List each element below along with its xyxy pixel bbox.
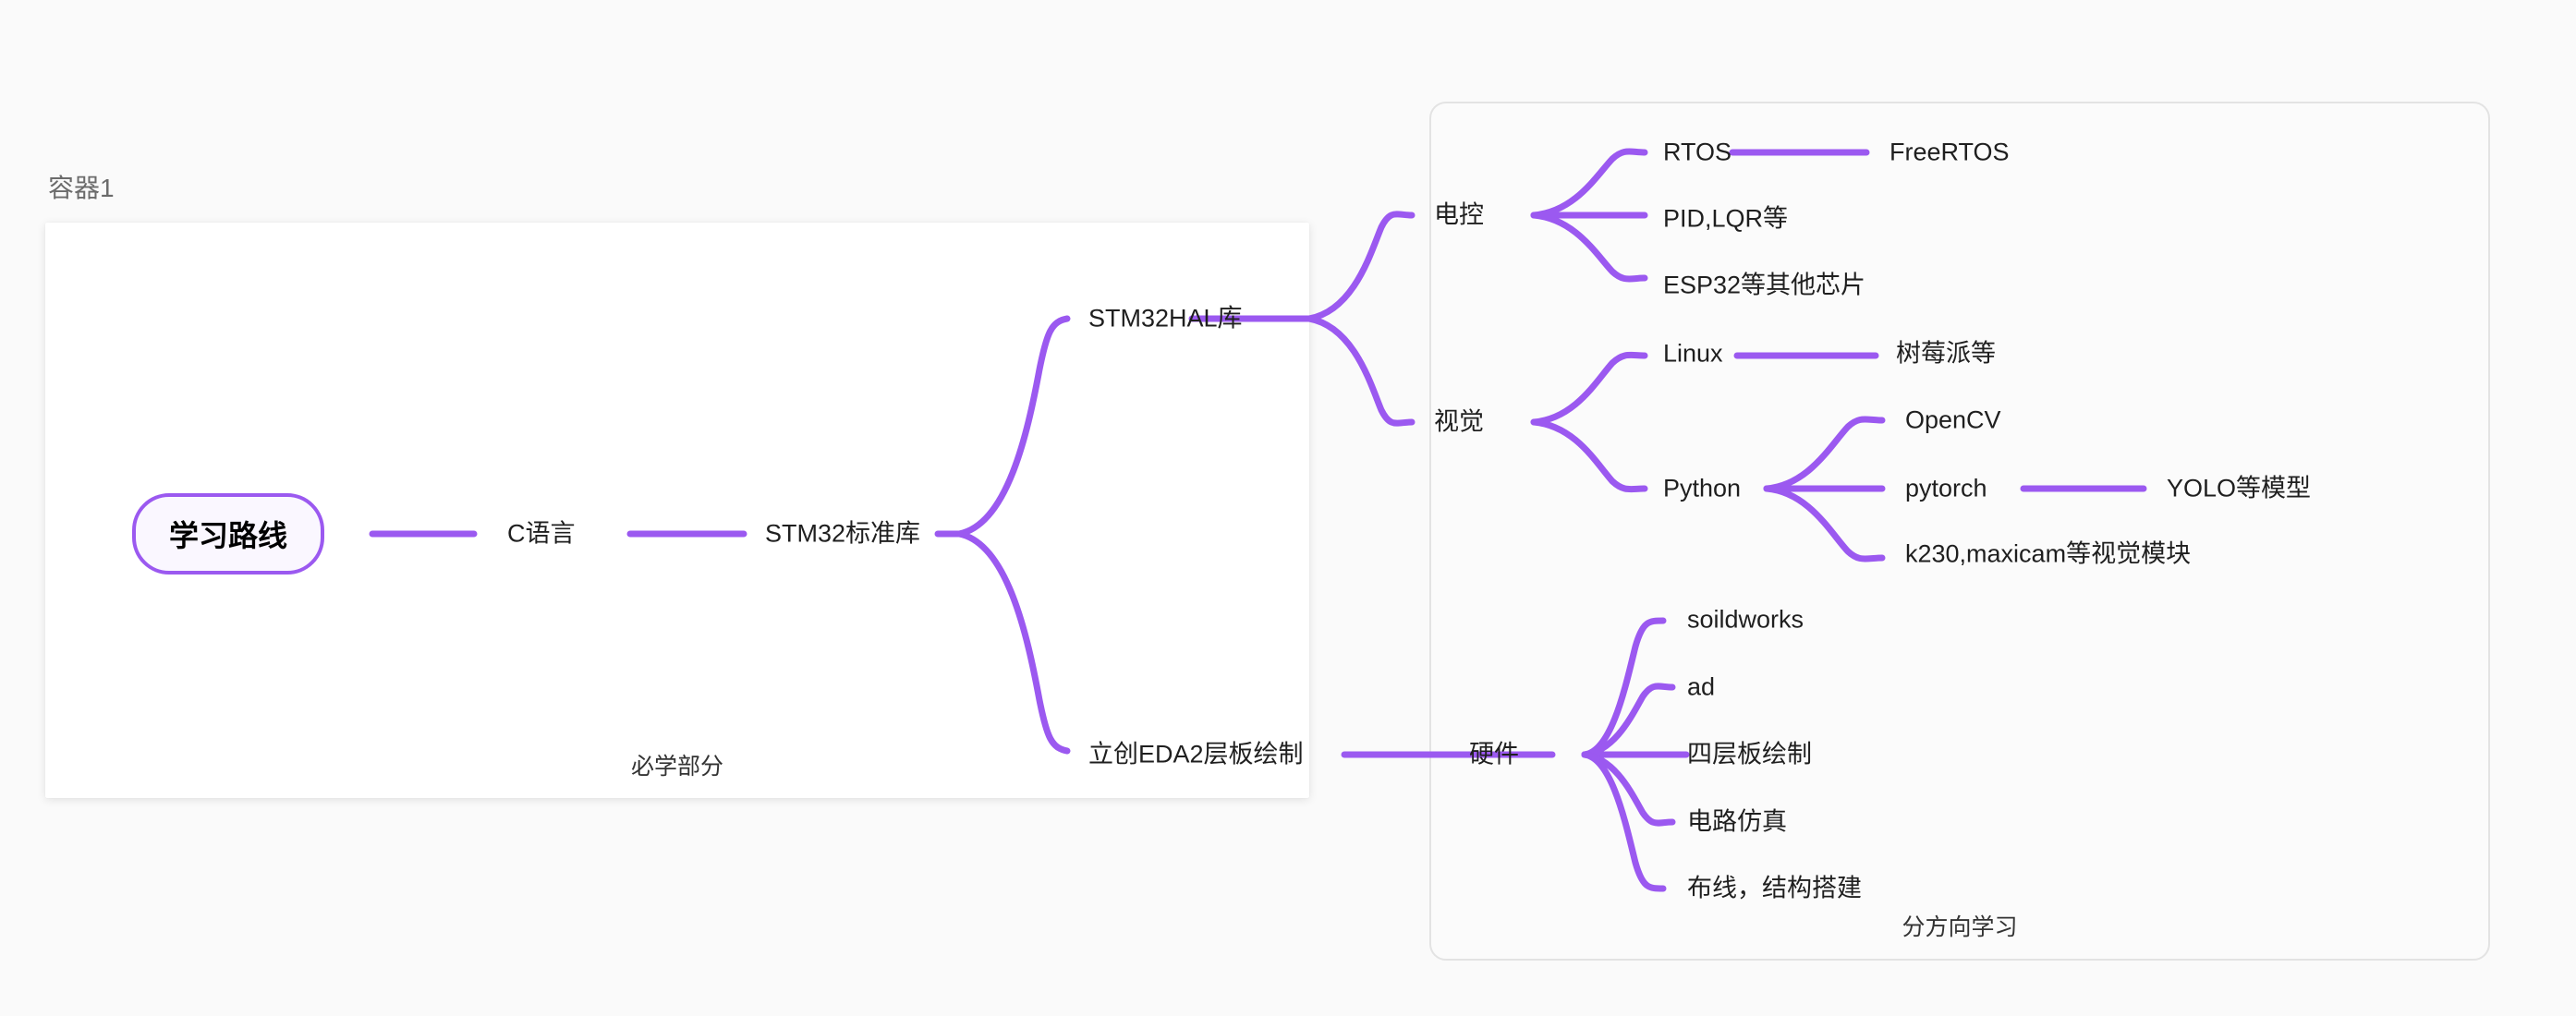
- mindmap-canvas: 容器1 必学部分 分方向学习: [0, 0, 2576, 1016]
- node-esp32[interactable]: ESP32等其他芯片: [1663, 271, 1865, 299]
- edge-hal-to-vision: [1309, 319, 1412, 423]
- node-pytorch[interactable]: pytorch: [1905, 474, 1987, 502]
- node-root[interactable]: 学习路线: [132, 493, 324, 575]
- node-freertos[interactable]: FreeRTOS: [1889, 138, 2010, 166]
- node-electrical[interactable]: 电控: [1434, 200, 1484, 229]
- node-hardware[interactable]: 硬件: [1469, 740, 1519, 768]
- node-linux[interactable]: Linux: [1663, 339, 1723, 368]
- node-circuit-sim[interactable]: 电路仿真: [1687, 807, 1787, 836]
- node-stm32-std[interactable]: STM32标准库: [765, 519, 920, 548]
- node-k230[interactable]: k230,maxicam等视觉模块: [1905, 539, 2191, 568]
- node-vision[interactable]: 视觉: [1434, 407, 1484, 436]
- node-four-layer[interactable]: 四层板绘制: [1687, 740, 1812, 768]
- edge-hal-to-electrical: [1309, 214, 1412, 319]
- node-yolo[interactable]: YOLO等模型: [2167, 474, 2311, 502]
- node-wiring[interactable]: 布线，结构搭建: [1687, 874, 1862, 902]
- container-right-box[interactable]: 分方向学习: [1429, 102, 2490, 961]
- node-c-language[interactable]: C语言: [507, 519, 576, 548]
- node-stm32-hal[interactable]: STM32HAL库: [1088, 304, 1243, 333]
- node-solidworks[interactable]: soildworks: [1687, 605, 1804, 634]
- container-right-footer: 分方向学习: [1431, 909, 2488, 942]
- node-python[interactable]: Python: [1663, 474, 1741, 502]
- node-raspberry[interactable]: 树莓派等: [1896, 339, 1996, 368]
- node-rtos[interactable]: RTOS: [1663, 138, 1732, 166]
- node-ad[interactable]: ad: [1687, 672, 1715, 701]
- node-opencv[interactable]: OpenCV: [1905, 405, 2001, 434]
- node-pid-lqr[interactable]: PID,LQR等: [1663, 204, 1788, 233]
- container1-title: 容器1: [48, 175, 115, 201]
- node-lceda[interactable]: 立创EDA2层板绘制: [1088, 740, 1304, 768]
